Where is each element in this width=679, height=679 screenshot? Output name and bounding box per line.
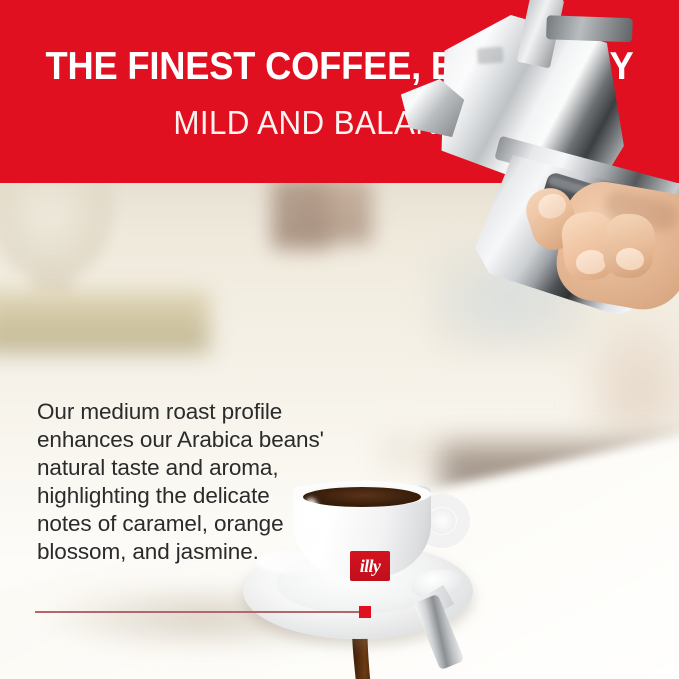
accent-rule-dot bbox=[359, 606, 371, 618]
illy-logo: illy bbox=[350, 551, 390, 581]
body-copy: Our medium roast profile enhances our Ar… bbox=[37, 398, 327, 566]
cup-handle-hole bbox=[428, 508, 456, 534]
moka-emboss-mark bbox=[477, 47, 504, 65]
illy-logo-text: illy bbox=[360, 557, 381, 575]
accent-rule bbox=[35, 611, 365, 613]
background-counter bbox=[0, 291, 210, 353]
moka-lid-knob bbox=[546, 15, 633, 42]
product-lifestyle-banner: THE FINEST COFFEE, EVERY DAY MILD AND BA… bbox=[0, 0, 679, 679]
